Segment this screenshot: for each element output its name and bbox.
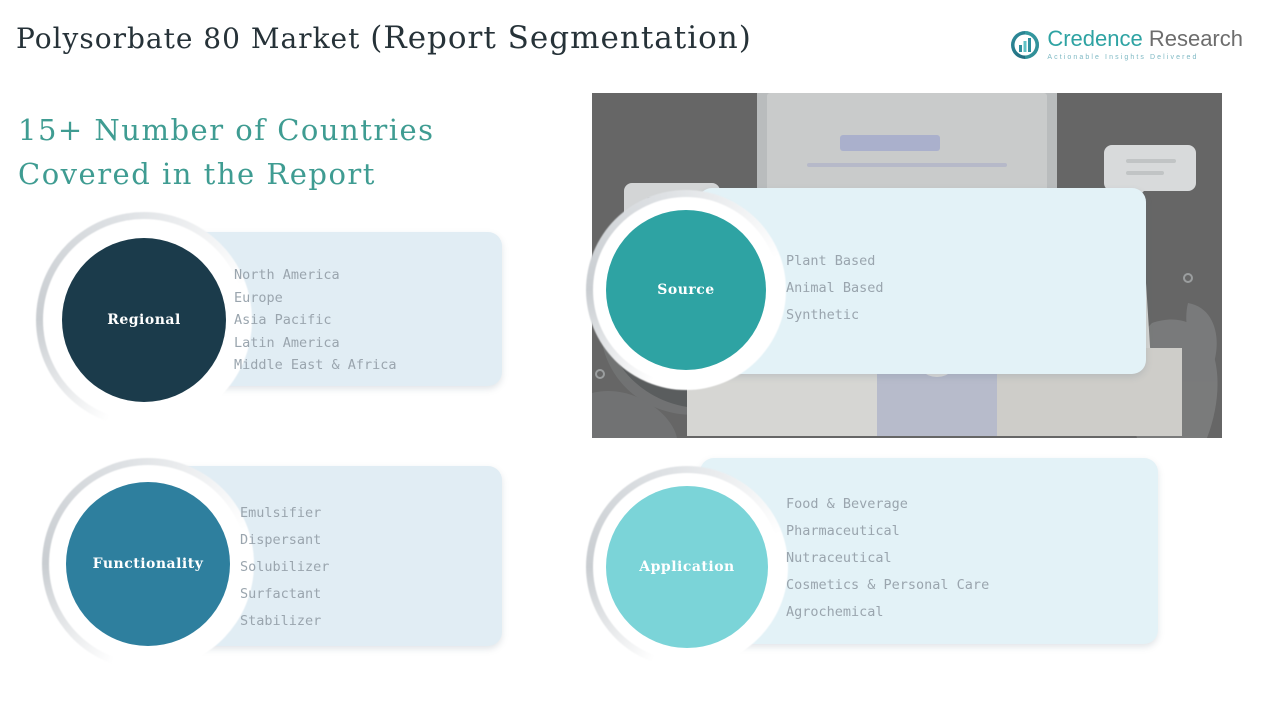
segment-circle-source[interactable]: Source: [606, 210, 766, 370]
segment-items-application: Food & Beverage Pharmaceutical Nutraceut…: [786, 491, 989, 626]
segment-circle-regional[interactable]: Regional: [62, 238, 226, 402]
list-item: Food & Beverage: [786, 491, 989, 518]
list-item: Nutraceutical: [786, 545, 989, 572]
list-item: Animal Based: [786, 275, 884, 302]
segment-circle-wrap-regional: Regional: [36, 212, 252, 428]
brand-name: Credence Research: [1047, 28, 1243, 50]
list-item: Agrochemical: [786, 599, 989, 626]
list-item: North America: [234, 264, 397, 287]
brand-name-rest: Research: [1143, 26, 1243, 51]
list-item: Plant Based: [786, 248, 884, 275]
headline-line-1: 15+ Number of Countries: [18, 108, 435, 152]
page-title-main: Polysorbate 80 Market: [16, 22, 360, 55]
list-item: Europe: [234, 287, 397, 310]
segment-items-regional: North America Europe Asia Pacific Latin …: [234, 264, 397, 377]
segment-label-source: Source: [657, 280, 714, 300]
headline-line-2: Covered in the Report: [18, 152, 435, 196]
brand-logo: Credence Research Actionable Insights De…: [1010, 28, 1243, 61]
segment-circle-wrap-source: Source: [586, 190, 786, 390]
list-item: Latin America: [234, 332, 397, 355]
list-item: Pharmaceutical: [786, 518, 989, 545]
list-item: Emulsifier: [240, 500, 329, 527]
page-title: Polysorbate 80 Market (Report Segmentati…: [16, 20, 752, 56]
brand-logo-text: Credence Research Actionable Insights De…: [1047, 28, 1243, 61]
segment-items-functionality: Emulsifier Dispersant Solubilizer Surfac…: [240, 500, 329, 635]
segment-items-source: Plant Based Animal Based Synthetic: [786, 248, 884, 329]
segment-label-application: Application: [639, 557, 734, 577]
segment-circle-application[interactable]: Application: [606, 486, 768, 648]
brand-name-accent: Credence: [1047, 26, 1142, 51]
brand-tagline: Actionable Insights Delivered: [1047, 54, 1243, 61]
segment-circle-wrap-application: Application: [586, 466, 788, 668]
page-title-sub: (Report Segmentation): [370, 20, 752, 56]
list-item: Asia Pacific: [234, 309, 397, 332]
list-item: Synthetic: [786, 302, 884, 329]
segment-label-functionality: Functionality: [93, 554, 204, 574]
list-item: Dispersant: [240, 527, 329, 554]
list-item: Solubilizer: [240, 554, 329, 581]
segment-circle-wrap-functionality: Functionality: [42, 458, 254, 670]
segment-circle-functionality[interactable]: Functionality: [66, 482, 230, 646]
countries-covered-headline: 15+ Number of Countries Covered in the R…: [18, 108, 435, 196]
list-item: Stabilizer: [240, 608, 329, 635]
segment-label-regional: Regional: [107, 310, 181, 330]
list-item: Surfactant: [240, 581, 329, 608]
list-item: Cosmetics & Personal Care: [786, 572, 989, 599]
list-item: Middle East & Africa: [234, 354, 397, 377]
bar-chart-circle-icon: [1010, 30, 1040, 60]
